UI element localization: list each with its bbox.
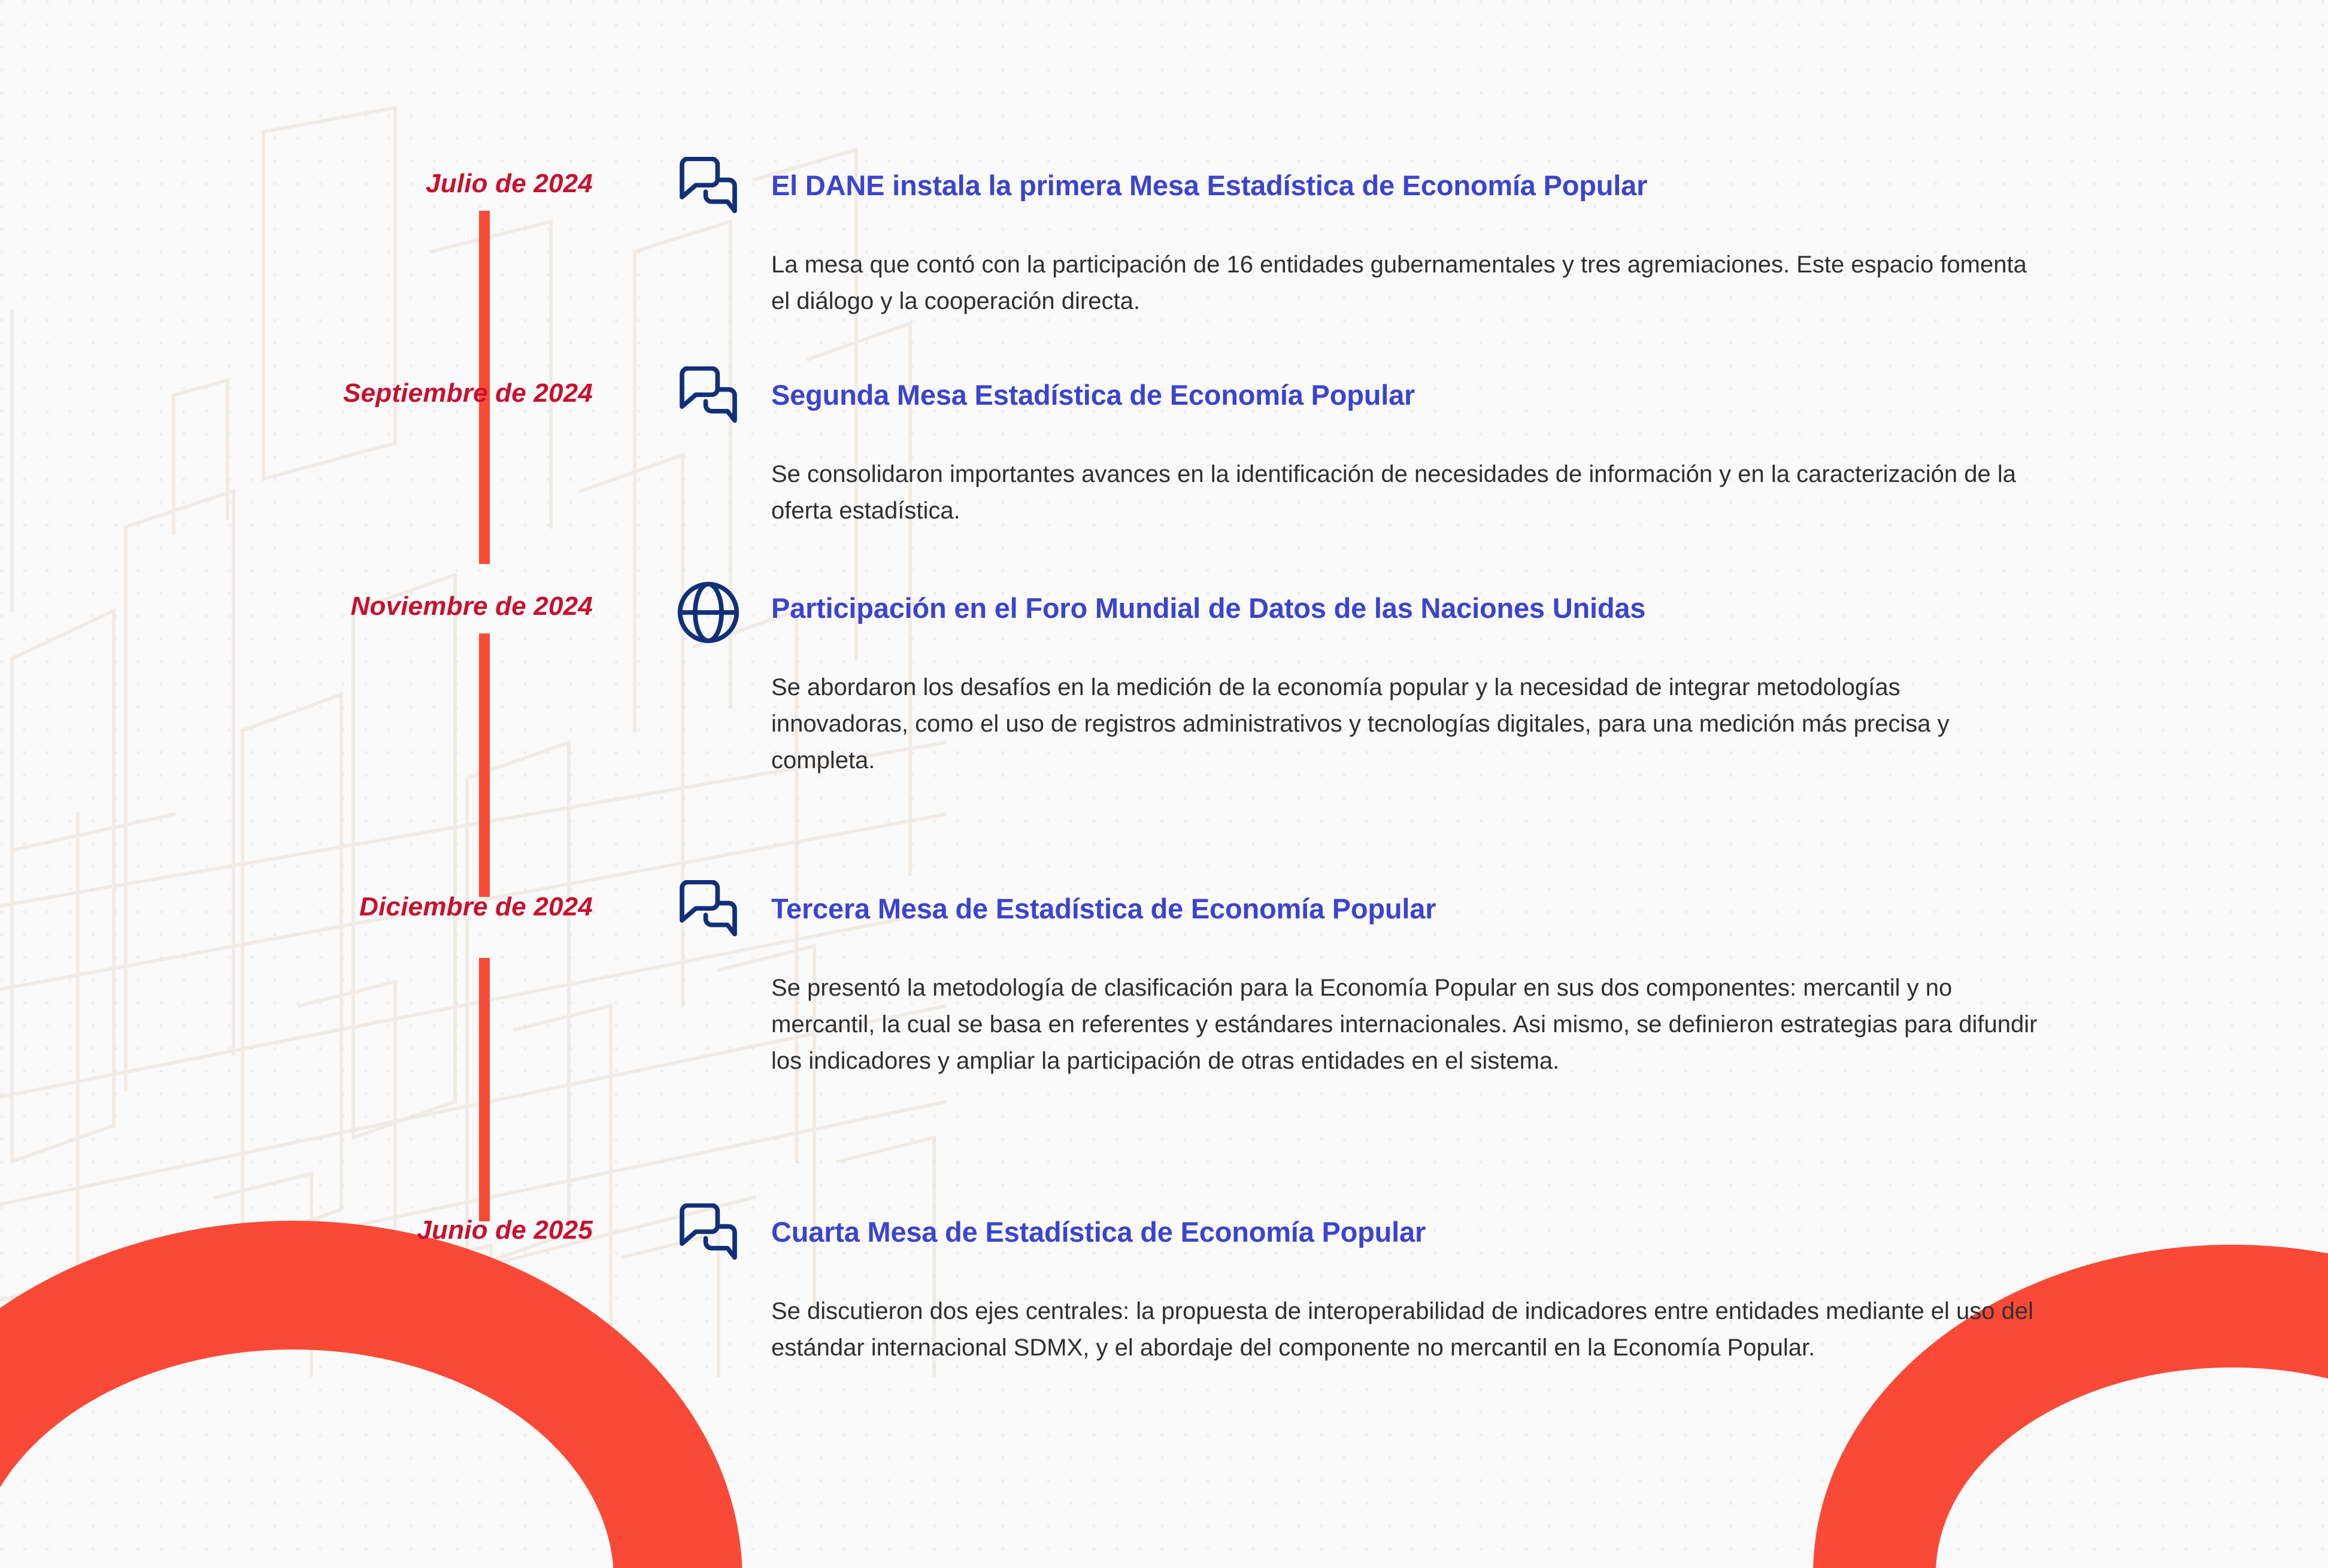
entry-title: Tercera Mesa de Estadística de Economía … [771, 892, 1436, 925]
timeline-infographic: Julio de 2024 El DANE instala la primera… [0, 0, 2328, 1568]
entry-date-label: Junio de 2025 [0, 1215, 593, 1245]
entry-title: Segunda Mesa Estadística de Economía Pop… [771, 378, 1415, 411]
globe-icon [675, 580, 741, 645]
entry-date-label: Septiembre de 2024 [0, 378, 593, 408]
entry-body-text: Se abordaron los desafíos en la medición… [771, 669, 2041, 778]
chat-bubbles-icon [675, 880, 741, 946]
entry-date-label: Noviembre de 2024 [0, 592, 593, 621]
entry-title: Cuarta Mesa de Estadística de Economía P… [771, 1215, 1426, 1248]
entry-date-label: Diciembre de 2024 [0, 892, 593, 922]
chat-bubbles-icon [675, 157, 741, 223]
entry-date-label: Julio de 2024 [0, 169, 593, 199]
entry-body-text: Se presentó la metodología de clasificac… [771, 970, 2041, 1079]
timeline-track: Julio de 2024 El DANE instala la primera… [0, 0, 2328, 1568]
entry-title: Participación en el Foro Mundial de Dato… [771, 592, 1645, 624]
entry-body-text: Se discutieron dos ejes centrales: la pr… [771, 1293, 2041, 1366]
timeline-rail-segment-2 [479, 420, 490, 564]
entry-body-text: Se consolidaron importantes avances en l… [771, 456, 2041, 529]
entry-title: El DANE instala la primera Mesa Estadíst… [771, 169, 1647, 202]
entry-body-text: La mesa que contó con la participación d… [771, 247, 2041, 320]
chat-bubbles-icon [675, 1203, 741, 1269]
timeline-rail-segment-4 [479, 958, 490, 1221]
timeline-rail-segment-3 [479, 633, 490, 897]
chat-bubbles-icon [675, 366, 741, 432]
